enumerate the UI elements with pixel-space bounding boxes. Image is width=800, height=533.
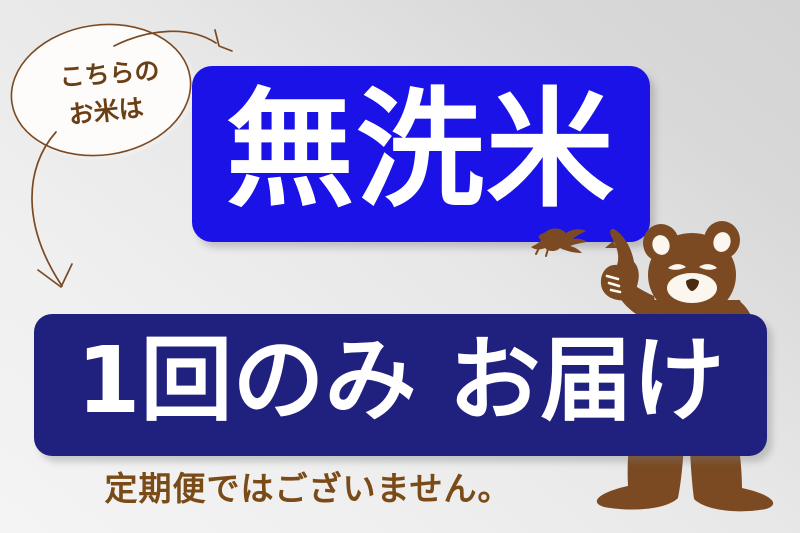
banner-bottom-text: 1回のみ お届け: [76, 335, 724, 427]
banner-top-text: 無洗米: [226, 87, 616, 215]
speech-bubble-line-1: こちらの: [58, 52, 160, 94]
bear-head: [648, 233, 736, 317]
bear-paw-claw: [605, 241, 617, 248]
bear-muzzle: [667, 273, 717, 303]
banner-muse-mai: 無洗米: [192, 66, 650, 242]
bear-nose: [686, 279, 699, 291]
bear-eyes: [668, 264, 717, 270]
subtitle-not-subscription: 定期便ではございません。: [0, 462, 616, 510]
bear-right-ear: [704, 221, 740, 259]
bear-paw-lines: [607, 276, 620, 292]
bear-right-inner-ear: [711, 230, 733, 254]
bear-left-inner-ear: [650, 233, 672, 257]
banner-one-time-delivery: 1回のみ お届け: [34, 314, 767, 456]
speech-bubble-line-2: お米は: [68, 90, 146, 133]
bear-left-arm: [612, 269, 656, 317]
speech-bubble: こちらの お米は: [12, 22, 194, 162]
speech-bubble-text: こちらの お米は: [6, 14, 200, 169]
promo-graphic-canvas: こちらの お米は: [0, 0, 800, 533]
